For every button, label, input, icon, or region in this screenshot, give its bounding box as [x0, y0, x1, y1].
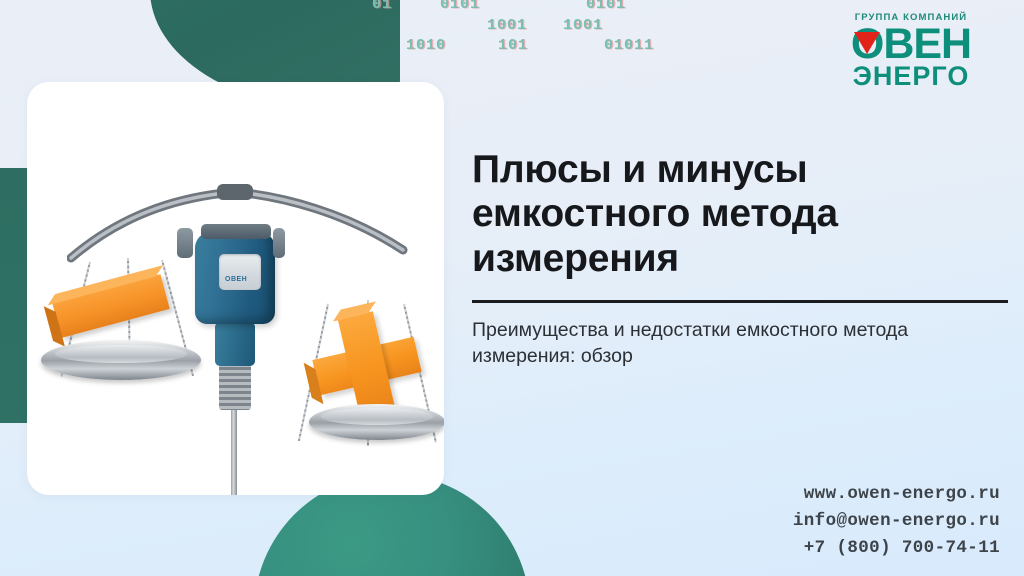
page-title: Плюсы и минусы емкостного метода измерен… — [472, 148, 1012, 281]
logo-letters-ven: ВЕН — [883, 20, 971, 68]
sensor-hex-nut — [215, 322, 255, 366]
logo-letter-o: О — [851, 24, 883, 65]
sensor-terminal-lid — [201, 224, 271, 239]
product-photo-image: ОВЕН — [27, 82, 444, 495]
sensor-display-window: ОВЕН — [219, 254, 261, 290]
contact-phone[interactable]: +7 (800) 700-74-11 — [793, 535, 1000, 562]
binary-token-2: 0101 — [586, 0, 626, 13]
logo-red-triangle-icon — [854, 32, 880, 54]
balance-pan-right — [309, 404, 444, 440]
binary-token-6: 101 — [498, 37, 528, 54]
sensor-probe-rod — [231, 408, 237, 495]
company-logo[interactable]: ГРУППА КОМПАНИЙ О ВЕН ЭНЕРГО — [822, 12, 1000, 90]
logo-wordmark: О ВЕН — [851, 24, 971, 65]
contact-block: www.owen-energo.ru info@owen-energo.ru +… — [793, 481, 1000, 562]
capacitive-level-sensor: ОВЕН — [175, 210, 295, 495]
decor-left-teal-band — [0, 168, 28, 423]
binary-token-5: 1010 — [406, 37, 446, 54]
slide-canvas: 010101010110011001101010101011 — [0, 0, 1024, 576]
sensor-thread — [219, 364, 251, 410]
binary-token-4: 1001 — [563, 17, 603, 34]
binary-token-1: 0101 — [440, 0, 480, 13]
sensor-cable-gland-left — [177, 228, 193, 258]
page-subtitle: Преимущества и недостатки емкостного мет… — [472, 318, 1012, 369]
contact-website[interactable]: www.owen-energo.ru — [793, 481, 1000, 508]
binary-token-7: 01011 — [604, 37, 654, 54]
sensor-brand-mark: ОВЕН — [225, 276, 247, 283]
contact-email[interactable]: info@owen-energo.ru — [793, 508, 1000, 535]
binary-token-3: 1001 — [487, 17, 527, 34]
sensor-cable-gland-right — [273, 228, 285, 258]
text-content-block: Плюсы и минусы емкостного метода измерен… — [472, 148, 1012, 370]
product-photo-card: ОВЕН — [27, 82, 444, 495]
title-divider — [472, 300, 1008, 303]
